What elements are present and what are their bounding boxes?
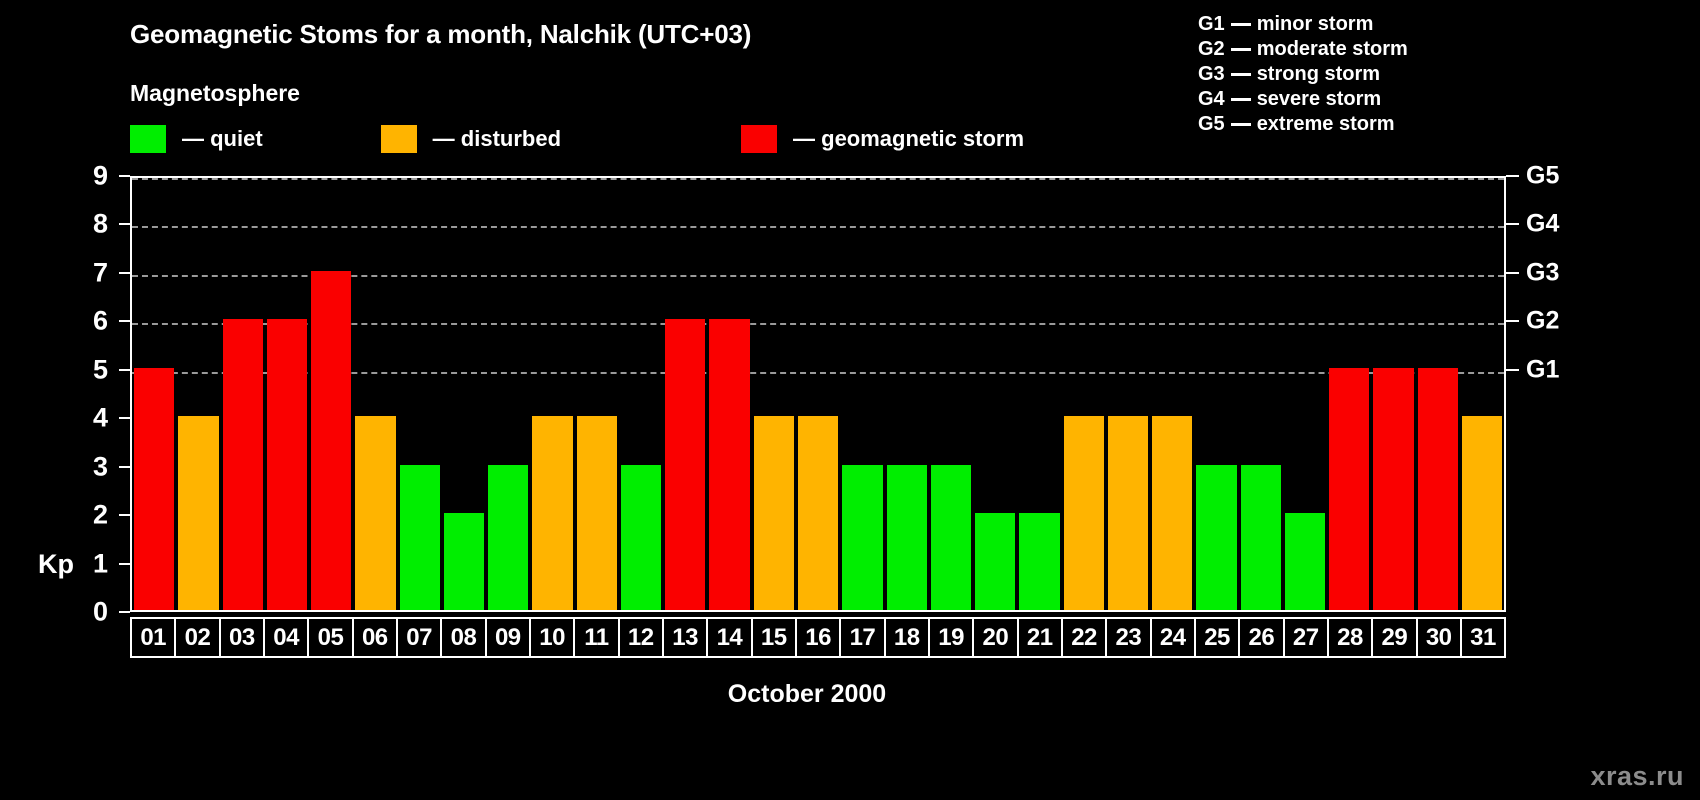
bar-slot — [1150, 178, 1194, 610]
bar-day-29 — [1373, 368, 1413, 610]
g-legend-dash-icon — [1231, 123, 1251, 126]
bar-day-28 — [1329, 368, 1369, 610]
y-tick-mark-7 — [119, 272, 130, 274]
day-label-07: 07 — [396, 617, 442, 658]
day-label-03: 03 — [219, 617, 265, 658]
g-tick-label-g4: G4 — [1526, 210, 1559, 239]
g-legend-dash-icon — [1231, 23, 1251, 26]
g-legend-description: severe storm — [1257, 88, 1382, 111]
bar-slot — [265, 178, 309, 610]
color-legend: — quiet— disturbed— geomagnetic storm — [130, 123, 1024, 155]
bar-day-15 — [754, 416, 794, 610]
bar-day-30 — [1418, 368, 1458, 610]
bar-slot — [353, 178, 397, 610]
storm-legend-text: — geomagnetic storm — [793, 126, 1024, 152]
day-label-23: 23 — [1105, 617, 1151, 658]
chart-root: Geomagnetic Stoms for a month, Nalchik (… — [0, 0, 1700, 800]
bar-slot — [752, 178, 796, 610]
bar-slot — [486, 178, 530, 610]
day-label-14: 14 — [706, 617, 752, 658]
storm-legend-swatch — [741, 125, 777, 153]
bar-day-31 — [1462, 416, 1502, 610]
bar-day-05 — [311, 271, 351, 610]
day-label-12: 12 — [618, 617, 664, 658]
g-legend-description: moderate storm — [1257, 38, 1408, 61]
g-legend-row-g5: G5extreme storm — [1198, 112, 1408, 137]
day-label-01: 01 — [130, 617, 176, 658]
y-tick-label-4: 4 — [93, 403, 108, 434]
y-axis-title: Kp — [38, 549, 74, 580]
bar-slot — [132, 178, 176, 610]
bar-day-22 — [1064, 416, 1104, 610]
g-scale-legend: G1minor stormG2moderate stormG3strong st… — [1198, 12, 1408, 137]
g-legend-row-g2: G2moderate storm — [1198, 37, 1408, 62]
bar-slot — [619, 178, 663, 610]
bar-slot — [929, 178, 973, 610]
bar-day-27 — [1285, 513, 1325, 610]
day-label-08: 08 — [440, 617, 486, 658]
day-label-30: 30 — [1416, 617, 1462, 658]
g-legend-description: extreme storm — [1257, 113, 1395, 136]
bar-day-10 — [532, 416, 572, 610]
g-tick-mark-g5 — [1506, 175, 1519, 177]
bar-slot — [1416, 178, 1460, 610]
g-tick-label-g3: G3 — [1526, 258, 1559, 287]
magnetosphere-section-label: Magnetosphere — [130, 80, 300, 107]
day-label-13: 13 — [662, 617, 708, 658]
g-legend-code: G5 — [1198, 113, 1225, 136]
quiet-legend-text: — quiet — [182, 126, 263, 152]
day-label-19: 19 — [928, 617, 974, 658]
bar-slot — [1327, 178, 1371, 610]
disturbed-legend-swatch — [381, 125, 417, 153]
bar-day-17 — [842, 465, 882, 610]
g-tick-label-g2: G2 — [1526, 307, 1559, 336]
day-label-25: 25 — [1194, 617, 1240, 658]
bar-day-26 — [1241, 465, 1281, 610]
bar-day-24 — [1152, 416, 1192, 610]
day-label-29: 29 — [1371, 617, 1417, 658]
bar-slot — [1371, 178, 1415, 610]
day-label-24: 24 — [1150, 617, 1196, 658]
bar-slot — [973, 178, 1017, 610]
bar-day-25 — [1196, 465, 1236, 610]
bar-slot — [663, 178, 707, 610]
bar-day-21 — [1019, 513, 1059, 610]
bar-day-18 — [887, 465, 927, 610]
g-scale-axis: G1G2G3G4G5 — [1506, 176, 1696, 612]
bar-slot — [530, 178, 574, 610]
bar-day-12 — [621, 465, 661, 610]
x-axis-day-labels: 0102030405060708091011121314151617181920… — [130, 617, 1506, 658]
bar-slot — [309, 178, 353, 610]
day-label-10: 10 — [529, 617, 575, 658]
y-tick-mark-0 — [119, 611, 130, 613]
day-label-15: 15 — [751, 617, 797, 658]
bar-day-14 — [709, 319, 749, 610]
bar-slot — [1460, 178, 1504, 610]
bar-series — [132, 178, 1504, 610]
g-tick-mark-g4 — [1506, 223, 1519, 225]
bar-slot — [1239, 178, 1283, 610]
bar-day-08 — [444, 513, 484, 610]
g-legend-dash-icon — [1231, 73, 1251, 76]
day-label-09: 09 — [485, 617, 531, 658]
bar-day-13 — [665, 319, 705, 610]
g-legend-code: G4 — [1198, 88, 1225, 111]
y-tick-label-6: 6 — [93, 306, 108, 337]
bar-day-03 — [223, 319, 263, 610]
x-axis-title: October 2000 — [0, 680, 1700, 709]
day-label-22: 22 — [1061, 617, 1107, 658]
y-tick-mark-6 — [119, 320, 130, 322]
y-tick-label-7: 7 — [93, 257, 108, 288]
day-label-05: 05 — [307, 617, 353, 658]
y-tick-label-9: 9 — [93, 161, 108, 192]
day-label-16: 16 — [795, 617, 841, 658]
g-legend-dash-icon — [1231, 98, 1251, 101]
y-tick-mark-5 — [119, 369, 130, 371]
disturbed-legend: — disturbed — [381, 125, 561, 153]
day-label-20: 20 — [972, 617, 1018, 658]
g-legend-row-g3: G3strong storm — [1198, 62, 1408, 87]
bar-day-11 — [577, 416, 617, 610]
g-legend-row-g4: G4severe storm — [1198, 87, 1408, 112]
quiet-legend: — quiet — [130, 125, 263, 153]
bar-day-04 — [267, 319, 307, 610]
bar-slot — [575, 178, 619, 610]
bar-slot — [840, 178, 884, 610]
bar-slot — [1194, 178, 1238, 610]
y-tick-label-3: 3 — [93, 451, 108, 482]
bar-day-02 — [178, 416, 218, 610]
day-label-11: 11 — [573, 617, 619, 658]
quiet-legend-swatch — [130, 125, 166, 153]
g-legend-row-g1: G1minor storm — [1198, 12, 1408, 37]
bar-slot — [707, 178, 751, 610]
g-legend-code: G3 — [1198, 63, 1225, 86]
g-legend-description: strong storm — [1257, 63, 1380, 86]
bar-slot — [1062, 178, 1106, 610]
bar-slot — [1106, 178, 1150, 610]
y-tick-mark-4 — [119, 417, 130, 419]
storm-legend: — geomagnetic storm — [741, 125, 1024, 153]
y-tick-label-2: 2 — [93, 500, 108, 531]
bar-day-06 — [355, 416, 395, 610]
y-tick-label-8: 8 — [93, 209, 108, 240]
bar-slot — [176, 178, 220, 610]
day-label-06: 06 — [352, 617, 398, 658]
y-tick-label-1: 1 — [93, 548, 108, 579]
bar-day-09 — [488, 465, 528, 610]
bar-slot — [1017, 178, 1061, 610]
bar-day-23 — [1108, 416, 1148, 610]
bar-slot — [442, 178, 486, 610]
g-tick-mark-g1 — [1506, 369, 1519, 371]
bar-slot — [885, 178, 929, 610]
day-label-17: 17 — [839, 617, 885, 658]
disturbed-legend-text: — disturbed — [433, 126, 561, 152]
day-label-18: 18 — [884, 617, 930, 658]
day-label-27: 27 — [1283, 617, 1329, 658]
bar-day-07 — [400, 465, 440, 610]
g-tick-label-g1: G1 — [1526, 355, 1559, 384]
plot-area — [130, 176, 1506, 612]
day-label-04: 04 — [263, 617, 309, 658]
y-tick-mark-1 — [119, 563, 130, 565]
watermark: xras.ru — [1590, 761, 1684, 792]
g-legend-dash-icon — [1231, 48, 1251, 51]
day-label-31: 31 — [1460, 617, 1506, 658]
g-legend-code: G1 — [1198, 13, 1225, 36]
day-label-28: 28 — [1327, 617, 1373, 658]
y-tick-label-0: 0 — [93, 597, 108, 628]
g-tick-mark-g3 — [1506, 272, 1519, 274]
y-tick-mark-8 — [119, 223, 130, 225]
bar-day-01 — [134, 368, 174, 610]
bar-day-16 — [798, 416, 838, 610]
bar-slot — [221, 178, 265, 610]
y-tick-mark-3 — [119, 466, 130, 468]
g-legend-description: minor storm — [1257, 13, 1374, 36]
bar-slot — [1283, 178, 1327, 610]
g-legend-code: G2 — [1198, 38, 1225, 61]
y-tick-label-5: 5 — [93, 354, 108, 385]
bar-day-19 — [931, 465, 971, 610]
g-tick-label-g5: G5 — [1526, 162, 1559, 191]
y-tick-mark-9 — [119, 175, 130, 177]
day-label-26: 26 — [1238, 617, 1284, 658]
day-label-02: 02 — [174, 617, 220, 658]
y-axis: Kp 0123456789 — [0, 176, 130, 612]
g-tick-mark-g2 — [1506, 320, 1519, 322]
chart-title: Geomagnetic Stoms for a month, Nalchik (… — [130, 19, 751, 50]
y-tick-mark-2 — [119, 514, 130, 516]
bar-slot — [796, 178, 840, 610]
day-label-21: 21 — [1017, 617, 1063, 658]
bar-slot — [398, 178, 442, 610]
bar-day-20 — [975, 513, 1015, 610]
